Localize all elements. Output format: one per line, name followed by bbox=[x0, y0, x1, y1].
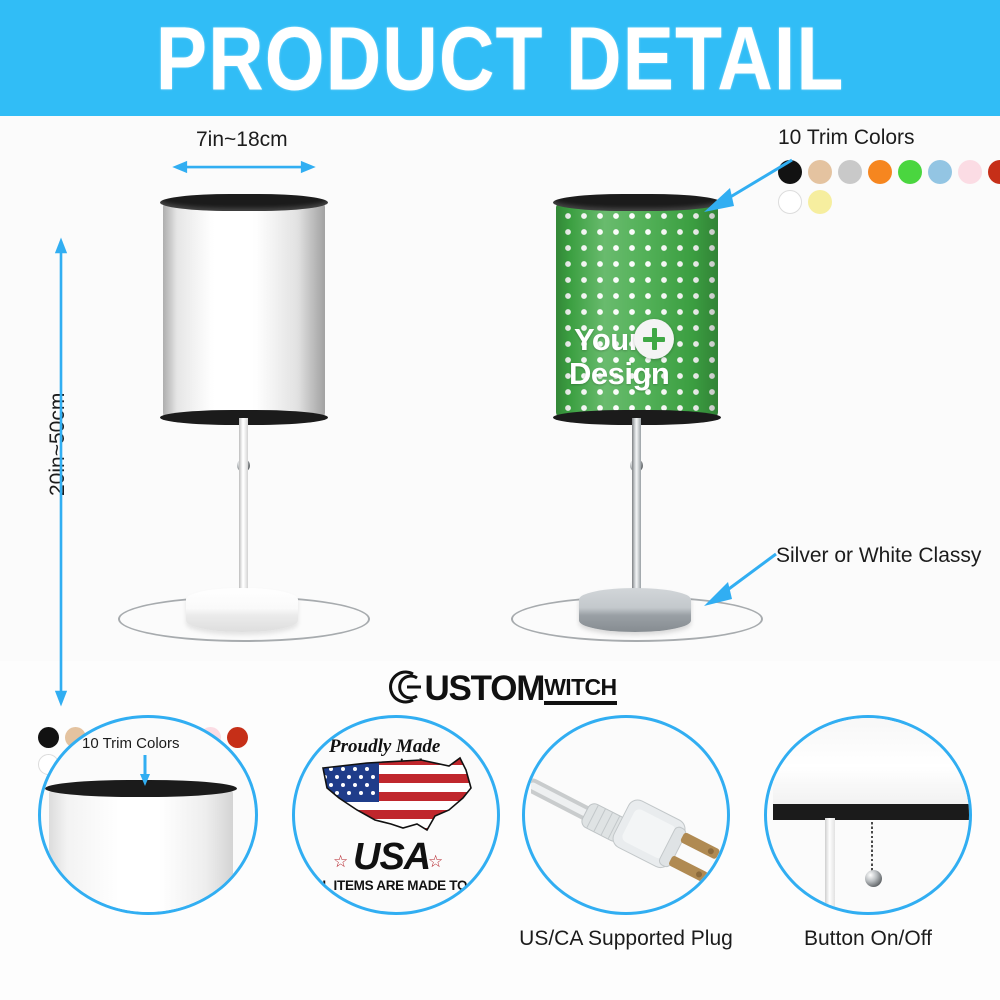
panel-pole bbox=[825, 818, 835, 915]
swatch-green[interactable] bbox=[898, 160, 922, 184]
panel-pull-chain-ball[interactable] bbox=[865, 870, 882, 887]
trim-color-swatch-row bbox=[778, 160, 1000, 214]
logo-sub-text: WITCH bbox=[544, 676, 616, 705]
usa-badge-footer: ALL ITEMS ARE MADE TO ORDER! bbox=[305, 878, 500, 893]
lamp-white-shade bbox=[163, 202, 325, 418]
trim-colors-callout: 10 Trim Colors bbox=[778, 126, 1000, 214]
panel-shade-body bbox=[49, 788, 233, 915]
lamp-white-shade-body bbox=[163, 202, 325, 418]
plug-panel-caption: US/CA Supported Plug bbox=[506, 927, 746, 951]
lamp-white-pole bbox=[239, 418, 248, 610]
base-finish-arrow bbox=[700, 548, 780, 608]
width-dimension-label: 7in~18cm bbox=[196, 128, 288, 152]
logo-main-text: USTOM bbox=[424, 671, 544, 706]
header-banner: PRODUCT DETAIL bbox=[0, 0, 1000, 116]
base-finish-label: Silver or White Classy bbox=[776, 544, 981, 568]
panel-trim-arrow bbox=[138, 755, 152, 787]
main-stage: 7in~18cm 20in~50cm bbox=[0, 116, 1000, 661]
panel-shade-lower-edge bbox=[773, 718, 972, 806]
page-title: PRODUCT DETAIL bbox=[156, 6, 845, 110]
panel-pull-chain[interactable] bbox=[871, 822, 873, 874]
trim-colors-title: 10 Trim Colors bbox=[778, 126, 1000, 150]
trim-colors-panel: 10 Trim Colors bbox=[38, 713, 268, 775]
swatch-gray[interactable] bbox=[838, 160, 862, 184]
usa-star-left: ☆ bbox=[333, 852, 348, 872]
product-detail-infographic: PRODUCT DETAIL 7in~18cm 20in~50cm bbox=[0, 0, 1000, 1000]
width-dimension-arrow bbox=[162, 160, 326, 174]
plus-icon[interactable] bbox=[634, 319, 674, 359]
height-dimension-arrow bbox=[54, 204, 68, 740]
lamp-white-trim-top bbox=[160, 194, 328, 211]
swatch-light-blue[interactable] bbox=[928, 160, 952, 184]
brand-logo: USTOM WITCH bbox=[0, 661, 1000, 713]
panel-trim-colors-label: 10 Trim Colors bbox=[82, 735, 180, 752]
button-panel-caption: Button On/Off bbox=[758, 927, 978, 951]
trim-callout-arrow bbox=[700, 154, 798, 214]
swatch-black[interactable] bbox=[38, 727, 59, 748]
your-design-line1: Your bbox=[574, 324, 640, 356]
lamp-green-pole bbox=[632, 418, 641, 610]
made-in-usa-circle: Proudly Made in the bbox=[292, 715, 500, 915]
feature-panels: 10 Trim Colors Proudly Made in the bbox=[0, 713, 1000, 1000]
swatch-orange[interactable] bbox=[868, 160, 892, 184]
lamp-green-base bbox=[579, 588, 691, 632]
usa-star-right: ☆ bbox=[428, 852, 443, 872]
swatch-tan[interactable] bbox=[808, 160, 832, 184]
usa-map-flag-icon bbox=[317, 754, 485, 848]
swatch-yellow[interactable] bbox=[808, 190, 832, 214]
plug-circle bbox=[522, 715, 730, 915]
your-design-line2: Design bbox=[569, 358, 669, 390]
c-mark-icon bbox=[383, 668, 423, 706]
lamp-green-trim-top bbox=[553, 194, 721, 211]
lamp-green-shade: Your Design bbox=[556, 202, 718, 418]
button-circle bbox=[764, 715, 972, 915]
usa-badge-big: USA bbox=[353, 836, 430, 879]
swatch-red[interactable] bbox=[227, 727, 248, 748]
lamp-white-base bbox=[186, 588, 298, 632]
swatch-red[interactable] bbox=[988, 160, 1000, 184]
power-plug-icon bbox=[531, 764, 729, 884]
swatch-pink[interactable] bbox=[958, 160, 982, 184]
panel-trim-band bbox=[773, 804, 972, 820]
